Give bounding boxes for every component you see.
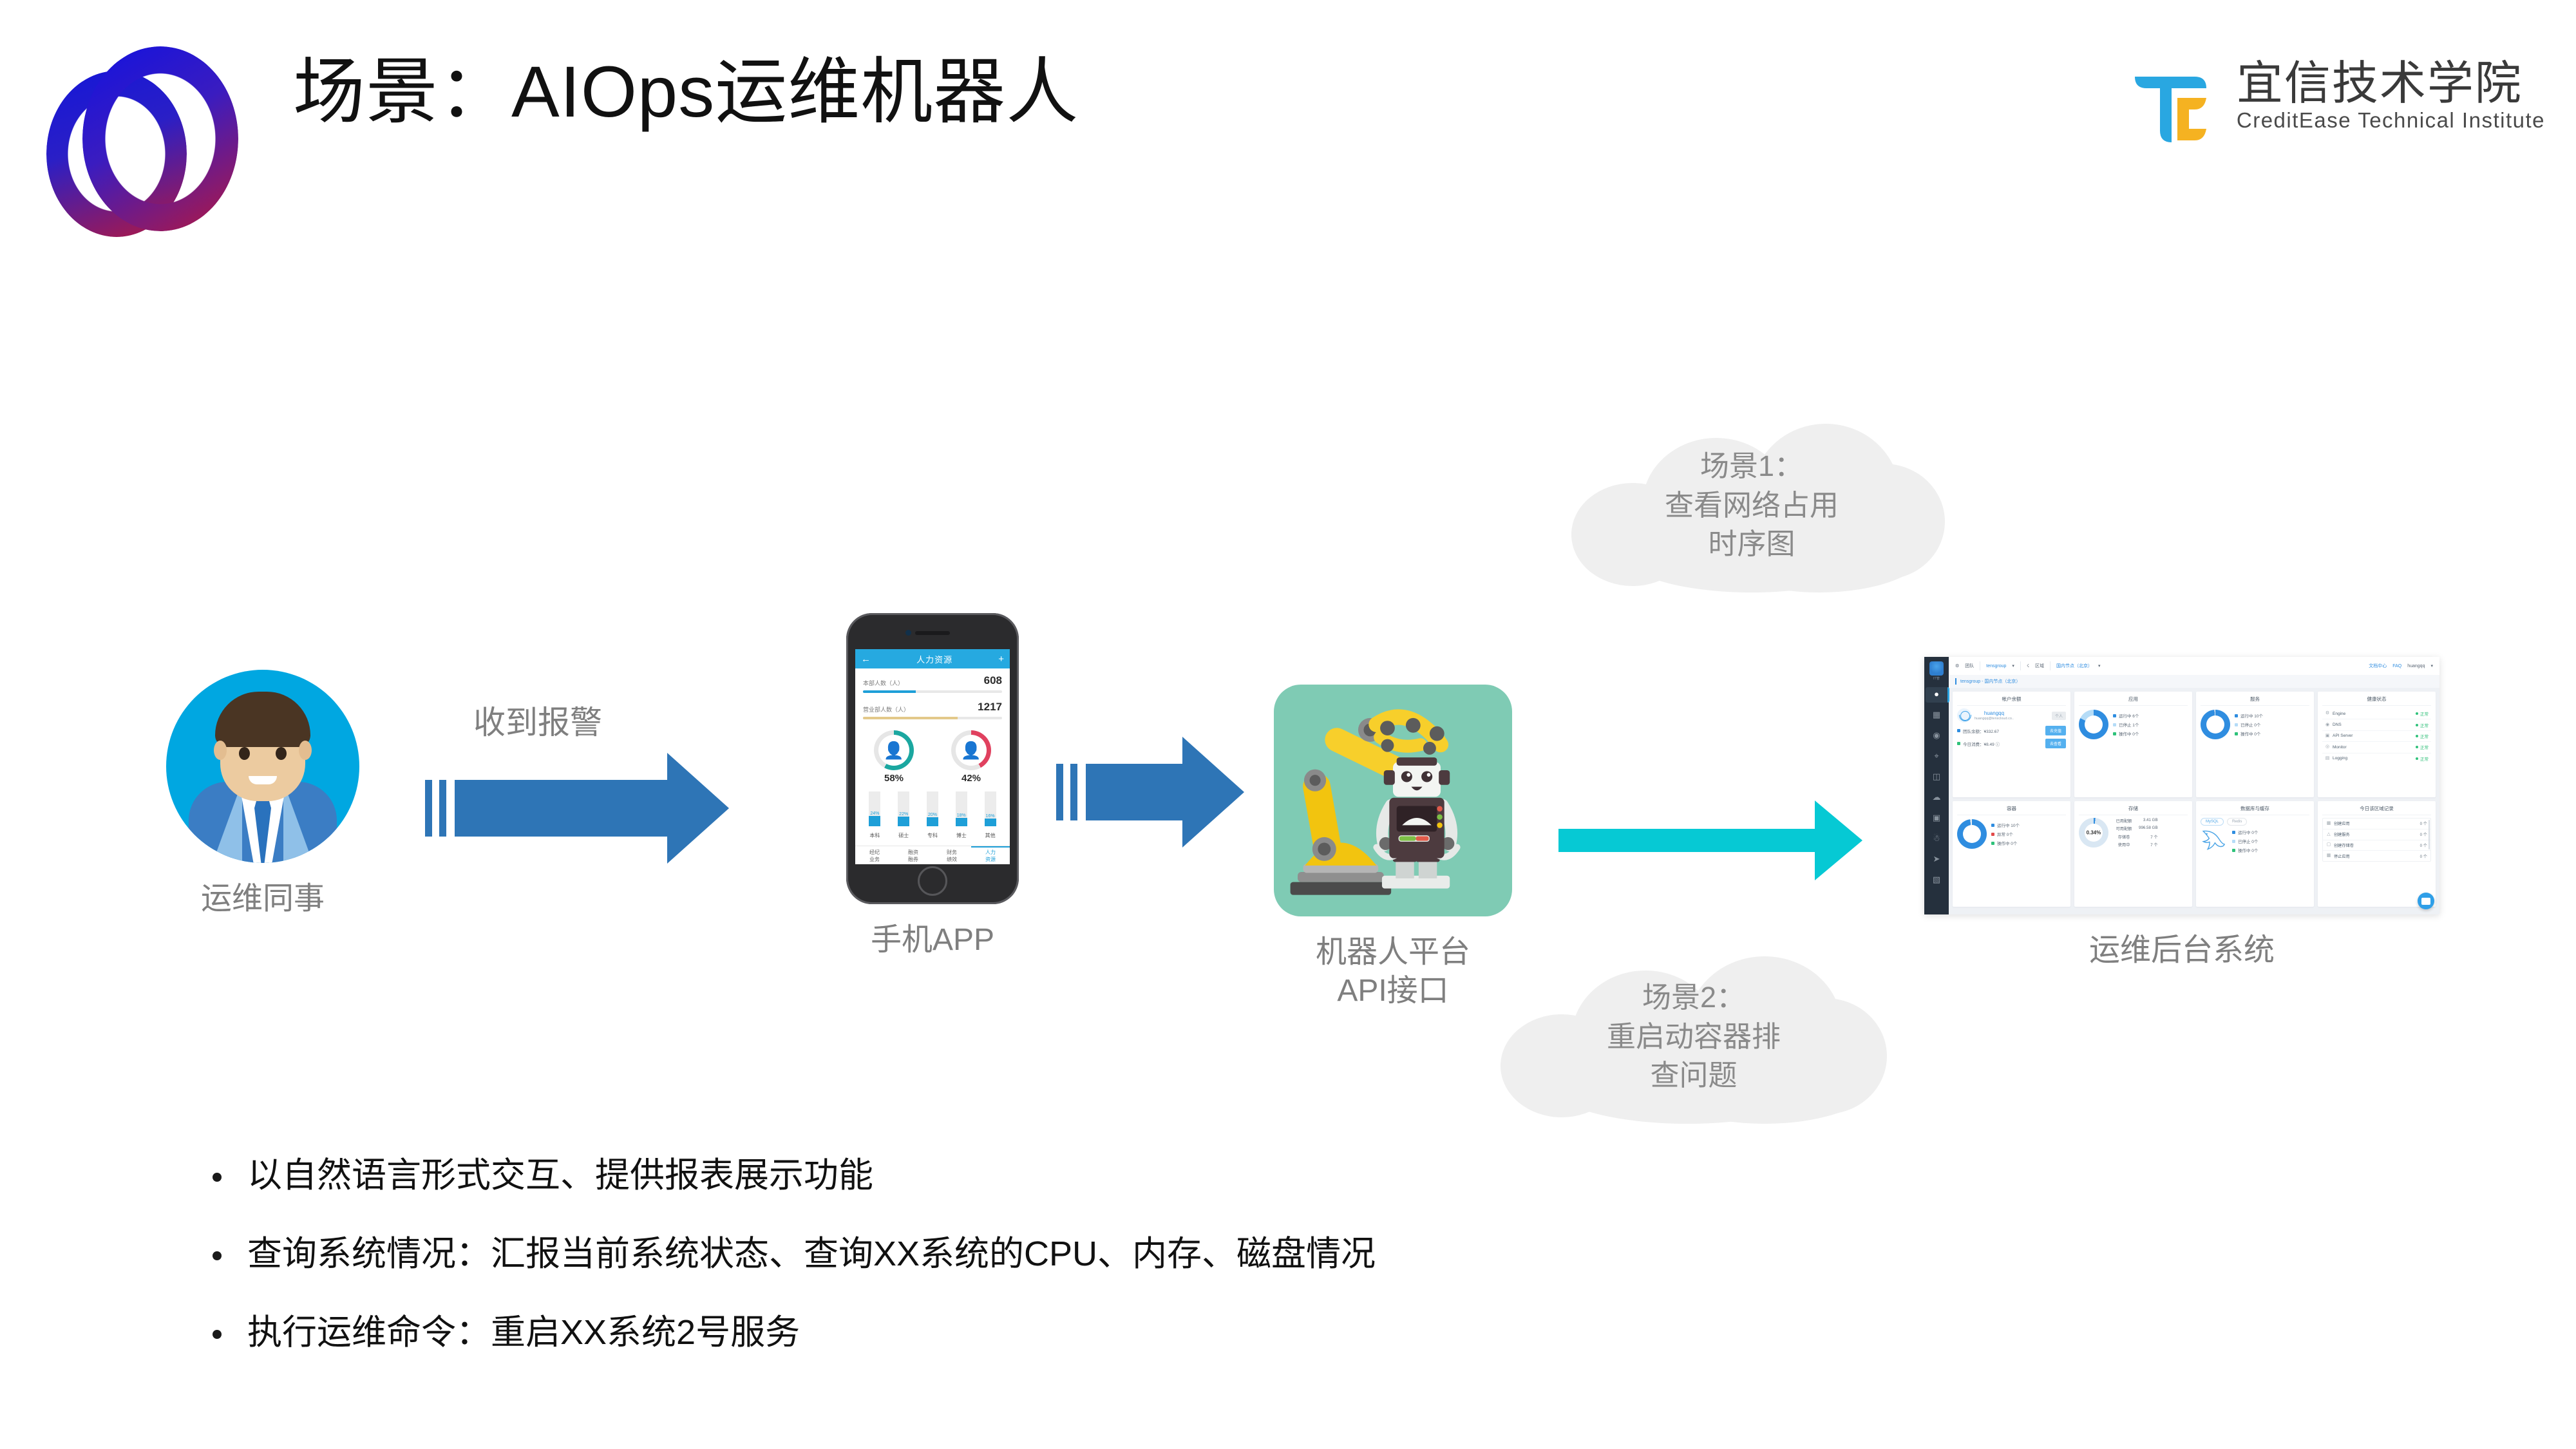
sidebar-item-apps[interactable]: ▦: [1932, 710, 1942, 719]
breadcrumb-text: tensgroup - 国内节点（北京）: [1960, 678, 2020, 685]
app-navbar: ← 人力资源 +: [855, 649, 1010, 668]
health-row: ◎ Monitor 正常: [2322, 742, 2431, 753]
settings-icon[interactable]: ⚙: [1955, 663, 1959, 668]
health-row: ▣ API Server 正常: [2322, 731, 2431, 742]
metric-label: 本部人数（人）: [863, 679, 904, 687]
logging-icon: ▤: [2325, 756, 2330, 761]
dashboard-logo-text: IT管: [1924, 676, 1949, 681]
account-user: huangqq: [1975, 710, 2014, 716]
bullet-text: 执行运维命令：重启XX系统2号服务: [247, 1310, 800, 1355]
chat-icon[interactable]: [2418, 893, 2434, 909]
gender-donuts: 👤 58% 👤 42%: [855, 730, 1010, 784]
bar-pct: 24%: [866, 811, 883, 816]
cloud1-line3: 时序图: [1665, 525, 1839, 564]
tab-brokerage[interactable]: 经纪业务: [855, 846, 894, 864]
gender-pct: 42%: [951, 773, 991, 784]
node-select[interactable]: 国内节点（北京）: [2056, 663, 2092, 669]
list-item: ▦ 停止应用0 个: [2323, 851, 2430, 861]
dashboard-card-grid: 帐户余额 huangqq huangqq@tenxcloud.co.. 个人: [1949, 688, 2439, 911]
service-donut-chart: [2201, 710, 2230, 739]
home-button-icon[interactable]: [918, 866, 947, 896]
card-title: 健康状态: [2322, 696, 2431, 706]
metric-block-2: 营业部人数（人） 1217: [855, 695, 1010, 721]
bar-label: 本科: [866, 832, 883, 839]
container-donut-chart: [1957, 819, 1987, 849]
card-containers: 容器 运行中 10个 异常 0个 操作中 0个: [1953, 801, 2070, 907]
health-row: ⚙ Engine 正常: [2322, 708, 2431, 719]
app-donut-chart: [2079, 710, 2108, 739]
cloud-scenario-1: 场景1： 查看网络占用 时序图: [1546, 412, 1958, 599]
card-title: 存储: [2079, 805, 2188, 815]
faq-link[interactable]: FAQ: [2392, 664, 2401, 668]
balance-label: 团队余额：¥332.67: [1963, 728, 1999, 734]
region-icon: ☇: [2027, 663, 2029, 668]
bar-column: 22% 硕士: [895, 791, 912, 842]
recharge-button[interactable]: 去充值: [2045, 726, 2066, 735]
phone-speaker: [915, 631, 950, 635]
bullet-dot-icon: [213, 1330, 222, 1339]
person-icon: 👤: [961, 742, 981, 759]
legend-item: 操作中 0个: [2232, 847, 2258, 853]
gender-pct: 58%: [874, 773, 914, 784]
arrow-phone-to-robot: [1056, 734, 1269, 850]
card-title: 容器: [1957, 805, 2066, 815]
phone-device: ← 人力资源 + 本部人数（人） 608 营业部人数（人）: [846, 613, 1019, 904]
legend-item: 运行中 10个: [2235, 712, 2263, 719]
sidebar-item-user[interactable]: ☃: [1932, 833, 1942, 843]
gender-donut-female: 👤 42%: [951, 730, 991, 784]
team-select[interactable]: tensgroup: [1986, 664, 2006, 668]
legend-item: 异常 0个: [1991, 831, 2020, 837]
balance-row: 团队余额：¥332.67 去充值: [1957, 726, 2066, 735]
cloud2-line2: 重启动容器排: [1607, 1018, 1781, 1057]
db-tab-redis[interactable]: Redis: [2227, 818, 2247, 826]
legend-item: 操作中 0个: [1991, 840, 2020, 846]
app-title: 人力资源: [916, 653, 952, 665]
list-item: ▦ 创建应用0 个: [2323, 819, 2430, 829]
bullet-list: 以自然语言形式交互、提供报表展示功能 查询系统情况：汇报当前系统状态、查询XX系…: [213, 1153, 2145, 1389]
legend-item: 运行中 0个: [2232, 829, 2258, 835]
bar-column: 18% 博士: [953, 791, 970, 842]
create-app-icon: ▦: [2326, 821, 2331, 826]
sidebar-item-cloud[interactable]: ☁: [1932, 792, 1942, 802]
flow-node-person: 运维同事: [160, 670, 366, 918]
metric-label: 营业部人数（人）: [863, 705, 909, 714]
bar-column: 24% 本科: [866, 791, 883, 842]
sidebar-item-terminal[interactable]: ▧: [1932, 875, 1942, 884]
phone-screen[interactable]: ← 人力资源 + 本部人数（人） 608 营业部人数（人）: [855, 649, 1010, 864]
create-volume-icon: ▢: [2326, 842, 2331, 848]
docs-link[interactable]: 文档中心: [2369, 663, 2387, 669]
scrollbar[interactable]: [2429, 820, 2430, 849]
monitor-icon: ◎: [2325, 744, 2330, 750]
card-applications: 应用 运行中 6个 已停止 1个 操作中 0个: [2074, 692, 2192, 797]
bar-pct: 16%: [982, 814, 999, 819]
avatar: [166, 670, 359, 863]
list-item: △ 创建服务0 个: [2323, 829, 2430, 840]
bar-pct: 20%: [924, 813, 941, 817]
cloud1-line1: 场景1：: [1665, 447, 1839, 486]
card-title: 应用: [2079, 696, 2188, 706]
card-title: 帐户余额: [1957, 696, 2066, 706]
metric-value: 608: [984, 674, 1002, 687]
card-database-cache: 数据库与缓存 MySQL Redis 运行中 0个: [2196, 801, 2314, 907]
bar-column: 16% 其他: [982, 791, 999, 842]
consumption-label: 今日消费：¥8.49 ⓘ: [1963, 741, 2000, 747]
card-storage: 存储 0.34% 已用配额3.41 GB 可用配额996.58 GB 存储卷7 …: [2074, 801, 2192, 907]
sidebar-item-service[interactable]: ◉: [1932, 730, 1942, 740]
storage-stats: 已用配额3.41 GB 可用配额996.58 GB 存储卷7 个 使用中7 个: [2113, 818, 2158, 848]
chevron-down-icon[interactable]: ▾: [2012, 663, 2014, 668]
db-tab-mysql[interactable]: MySQL: [2201, 818, 2224, 826]
phone-camera-icon: [905, 630, 911, 636]
legend-item: 操作中 0个: [2113, 730, 2139, 737]
bar-pct: 18%: [953, 813, 970, 818]
chevron-down-icon[interactable]: ▾: [2098, 663, 2101, 668]
slide-canvas: 场景：AIOps运维机器人 宜信技术学院 CreditEase Technica…: [0, 0, 2576, 1449]
ops-dashboard-screenshot[interactable]: IT管 ● ▦ ◉ ⌖ ◫ ☁ ▣ ☃ ➤ ▧: [1924, 657, 2439, 914]
sidebar-item-network[interactable]: ⌖: [1932, 751, 1942, 761]
list-item: 执行运维命令：重启XX系统2号服务: [213, 1310, 2145, 1355]
health-row: ▤ Logging 正常: [2322, 753, 2431, 764]
card-health-status: 健康状态 ⚙ Engine 正常 ◉ DNS 正常 ▣ API Server 正…: [2318, 692, 2436, 797]
gender-donut-male: 👤 58%: [874, 730, 914, 784]
cloud-scenario-2: 场景2： 重启动容器排 查问题: [1481, 943, 1906, 1130]
team-label: 团队: [1965, 663, 1974, 669]
bar-pct: 22%: [895, 812, 912, 817]
legend-item: 运行中 10个: [1991, 822, 2020, 828]
bar-column: 20% 专科: [924, 791, 941, 842]
tab-financing[interactable]: 融资融券: [894, 846, 933, 864]
bar-label: 硕士: [895, 832, 912, 839]
cloud1-line2: 查看网络占用: [1665, 486, 1839, 526]
metric-block-1: 本部人数（人） 608: [855, 668, 1010, 695]
dashboard-topbar: ⚙ 团队 tensgroup ▾ ☇ 区域 国内节点（北京） ▾ 文档中心 FA…: [1949, 657, 2439, 676]
card-title: 今日该区域记录: [2322, 805, 2431, 815]
create-service-icon: △: [2326, 832, 2331, 837]
region-label: 区域: [2035, 663, 2044, 669]
breadcrumb: tensgroup - 国内节点（北京）: [1949, 675, 2439, 688]
sidebar-item-monitor[interactable]: ▣: [1932, 813, 1942, 822]
bullet-text: 查询系统情况：汇报当前系统状态、查询XX系统的CPU、内存、磁盘情况: [247, 1231, 1376, 1276]
legend-item: 运行中 6个: [2113, 712, 2139, 719]
node-label-person: 运维同事: [160, 880, 366, 918]
dashboard-logo-icon: [1929, 661, 1944, 676]
account-email: huangqq@tenxcloud.co..: [1975, 717, 2014, 721]
arrow-person-to-phone: [425, 750, 760, 866]
bar-label: 其他: [982, 832, 999, 839]
legend-item: 已停止 0个: [2232, 838, 2258, 844]
card-today-records: 今日该区域记录 ▦ 创建应用0 个 △ 创建服务0 个 ▢ 创建存储卷0 个 ▦…: [2318, 801, 2436, 907]
api-server-icon: ▣: [2325, 734, 2330, 739]
person-icon: 👤: [884, 742, 904, 759]
list-item: 查询系统情况：汇报当前系统状态、查询XX系统的CPU、内存、磁盘情况: [213, 1231, 2145, 1276]
list-item: 以自然语言形式交互、提供报表展示功能: [213, 1153, 2145, 1198]
education-bar-chart: 24% 本科 22% 硕士 20%: [855, 791, 1010, 842]
tab-hr[interactable]: 人力资源: [971, 846, 1010, 864]
legend-item: 已停止 0个: [2235, 721, 2263, 728]
bullet-text: 以自然语言形式交互、提供报表展示功能: [247, 1153, 873, 1198]
node-label-dashboard: 运维后台系统: [1908, 931, 2456, 970]
flow-node-dashboard: IT管 ● ▦ ◉ ⌖ ◫ ☁ ▣ ☃ ➤ ▧: [1908, 657, 2456, 970]
bullet-dot-icon: [213, 1251, 222, 1260]
storage-pct: 0.34%: [2079, 830, 2108, 836]
legend-item: 已停止 1个: [2113, 721, 2139, 728]
cloud2-line1: 场景2：: [1607, 978, 1781, 1018]
node-label-phone: 手机APP: [836, 921, 1029, 960]
user-menu[interactable]: huangqq: [2407, 664, 2425, 668]
card-account-balance: 帐户余额 huangqq huangqq@tenxcloud.co.. 个人: [1953, 692, 2070, 797]
avatar: [1957, 708, 1971, 723]
records-list[interactable]: ▦ 创建应用0 个 △ 创建服务0 个 ▢ 创建存储卷0 个 ▦ 停止应用0 个: [2322, 818, 2431, 862]
dashboard-sidebar: IT管 ● ▦ ◉ ⌖ ◫ ☁ ▣ ☃ ➤ ▧: [1924, 657, 1949, 914]
health-row: ◉ DNS 正常: [2322, 719, 2431, 730]
view-button[interactable]: 去查看: [2045, 739, 2066, 748]
chevron-down-icon[interactable]: ▾: [2430, 663, 2433, 668]
arrow-label-receive-alert: 收到报警: [473, 697, 602, 743]
bar-label: 博士: [953, 832, 970, 839]
sidebar-item-home[interactable]: ●: [1932, 689, 1942, 699]
consumption-row: 今日消费：¥8.49 ⓘ 去查看: [1957, 739, 2066, 748]
arrow-robot-to-dashboard: [1558, 799, 1855, 882]
card-title: 服务: [2201, 696, 2309, 706]
card-services: 服务 运行中 10个 已停止 0个 操作中 0个: [2196, 692, 2314, 797]
engine-icon: ⚙: [2325, 711, 2330, 716]
card-title: 数据库与缓存: [2201, 805, 2309, 815]
tab-finance[interactable]: 财务绩效: [933, 846, 971, 864]
app-tabbar: 经纪业务 融资融券 财务绩效 人力资源: [855, 846, 1010, 864]
list-item: ▢ 创建存储卷0 个: [2323, 840, 2430, 851]
storage-donut-chart: 0.34%: [2079, 818, 2108, 848]
arrow-left-icon[interactable]: ←: [861, 654, 871, 664]
mysql-dolphin-icon: [2201, 828, 2228, 854]
stop-app-icon: ▦: [2326, 853, 2331, 858]
account-type-badge: 个人: [2052, 712, 2066, 720]
robot-platform-icon: [1274, 685, 1512, 916]
sidebar-item-rocket[interactable]: ➤: [1932, 854, 1942, 864]
plus-icon[interactable]: +: [998, 654, 1004, 664]
cloud2-line3: 查问题: [1607, 1056, 1781, 1095]
sidebar-item-database[interactable]: ◫: [1932, 772, 1942, 781]
dns-icon: ◉: [2325, 723, 2330, 728]
flow-node-phone: ← 人力资源 + 本部人数（人） 608 营业部人数（人）: [836, 613, 1029, 960]
legend-item: 操作中 0个: [2235, 730, 2263, 737]
bullet-dot-icon: [213, 1173, 222, 1182]
bar-label: 专科: [924, 832, 941, 839]
metric-value: 1217: [978, 701, 1002, 714]
